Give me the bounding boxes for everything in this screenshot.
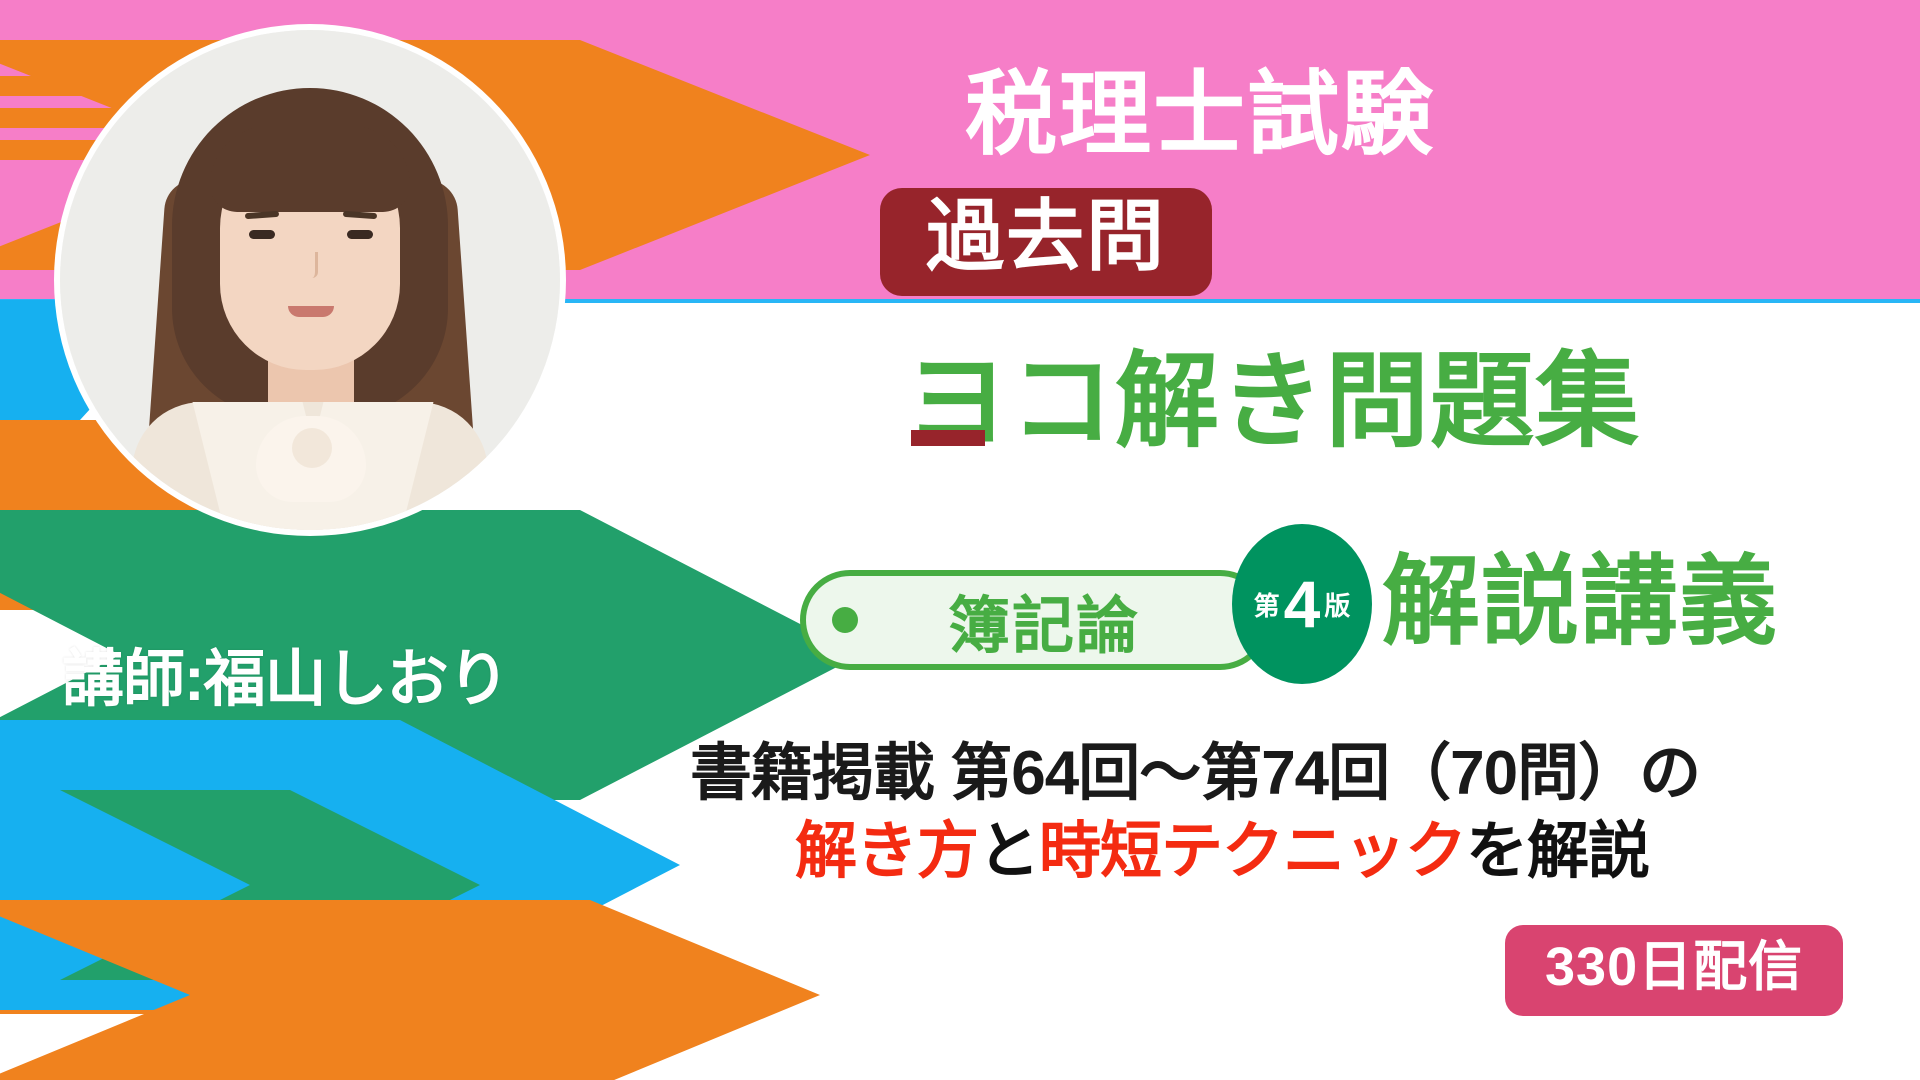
edition-number: 4 (1284, 571, 1321, 637)
mouth (288, 306, 334, 317)
description-line-2: 解き方と時短テクニックを解説 (795, 800, 1649, 890)
desc-highlight-1: 解き方 (795, 817, 978, 886)
instructor-name-label: 講師:福山しおり (62, 628, 509, 718)
past-questions-badge: 過去問 (880, 188, 1212, 296)
subject-label: 簿記論 (858, 575, 1264, 665)
exam-title: 税理士試験 (965, 40, 1435, 173)
description-line-1: 書籍掲載 第64回〜第74回（70問）の (690, 722, 1700, 812)
blouse-bow-knot (292, 428, 332, 468)
pill-dot-icon (832, 607, 858, 633)
main-title-text: ヨコ解き問題集 (905, 344, 1640, 460)
lecture-title: 解説講義 (1382, 552, 1778, 650)
edition-suffix: 版 (1324, 586, 1350, 623)
eye-right (347, 230, 373, 239)
instructor-photo (60, 30, 560, 530)
edition-prefix: 第 (1254, 586, 1280, 623)
promo-banner: 講師:福山しおり 税理士試験 過去問 ヨコ解き問題集 簿記論 第 4 版 解説講… (0, 0, 1920, 1080)
desc-conjunction: と (978, 817, 1039, 886)
subject-pill: 簿記論 (800, 570, 1270, 670)
fringe (210, 126, 410, 212)
eye-left (249, 230, 275, 239)
main-title: ヨコ解き問題集 (905, 350, 1640, 454)
nose (303, 252, 318, 278)
edition-badge: 第 4 版 (1232, 524, 1372, 684)
yoko-underline-accent (911, 430, 985, 446)
desc-suffix: を解説 (1466, 817, 1649, 886)
delivery-days-badge: 330日配信 (1505, 925, 1843, 1016)
desc-highlight-2: 時短テクニック (1039, 817, 1466, 886)
